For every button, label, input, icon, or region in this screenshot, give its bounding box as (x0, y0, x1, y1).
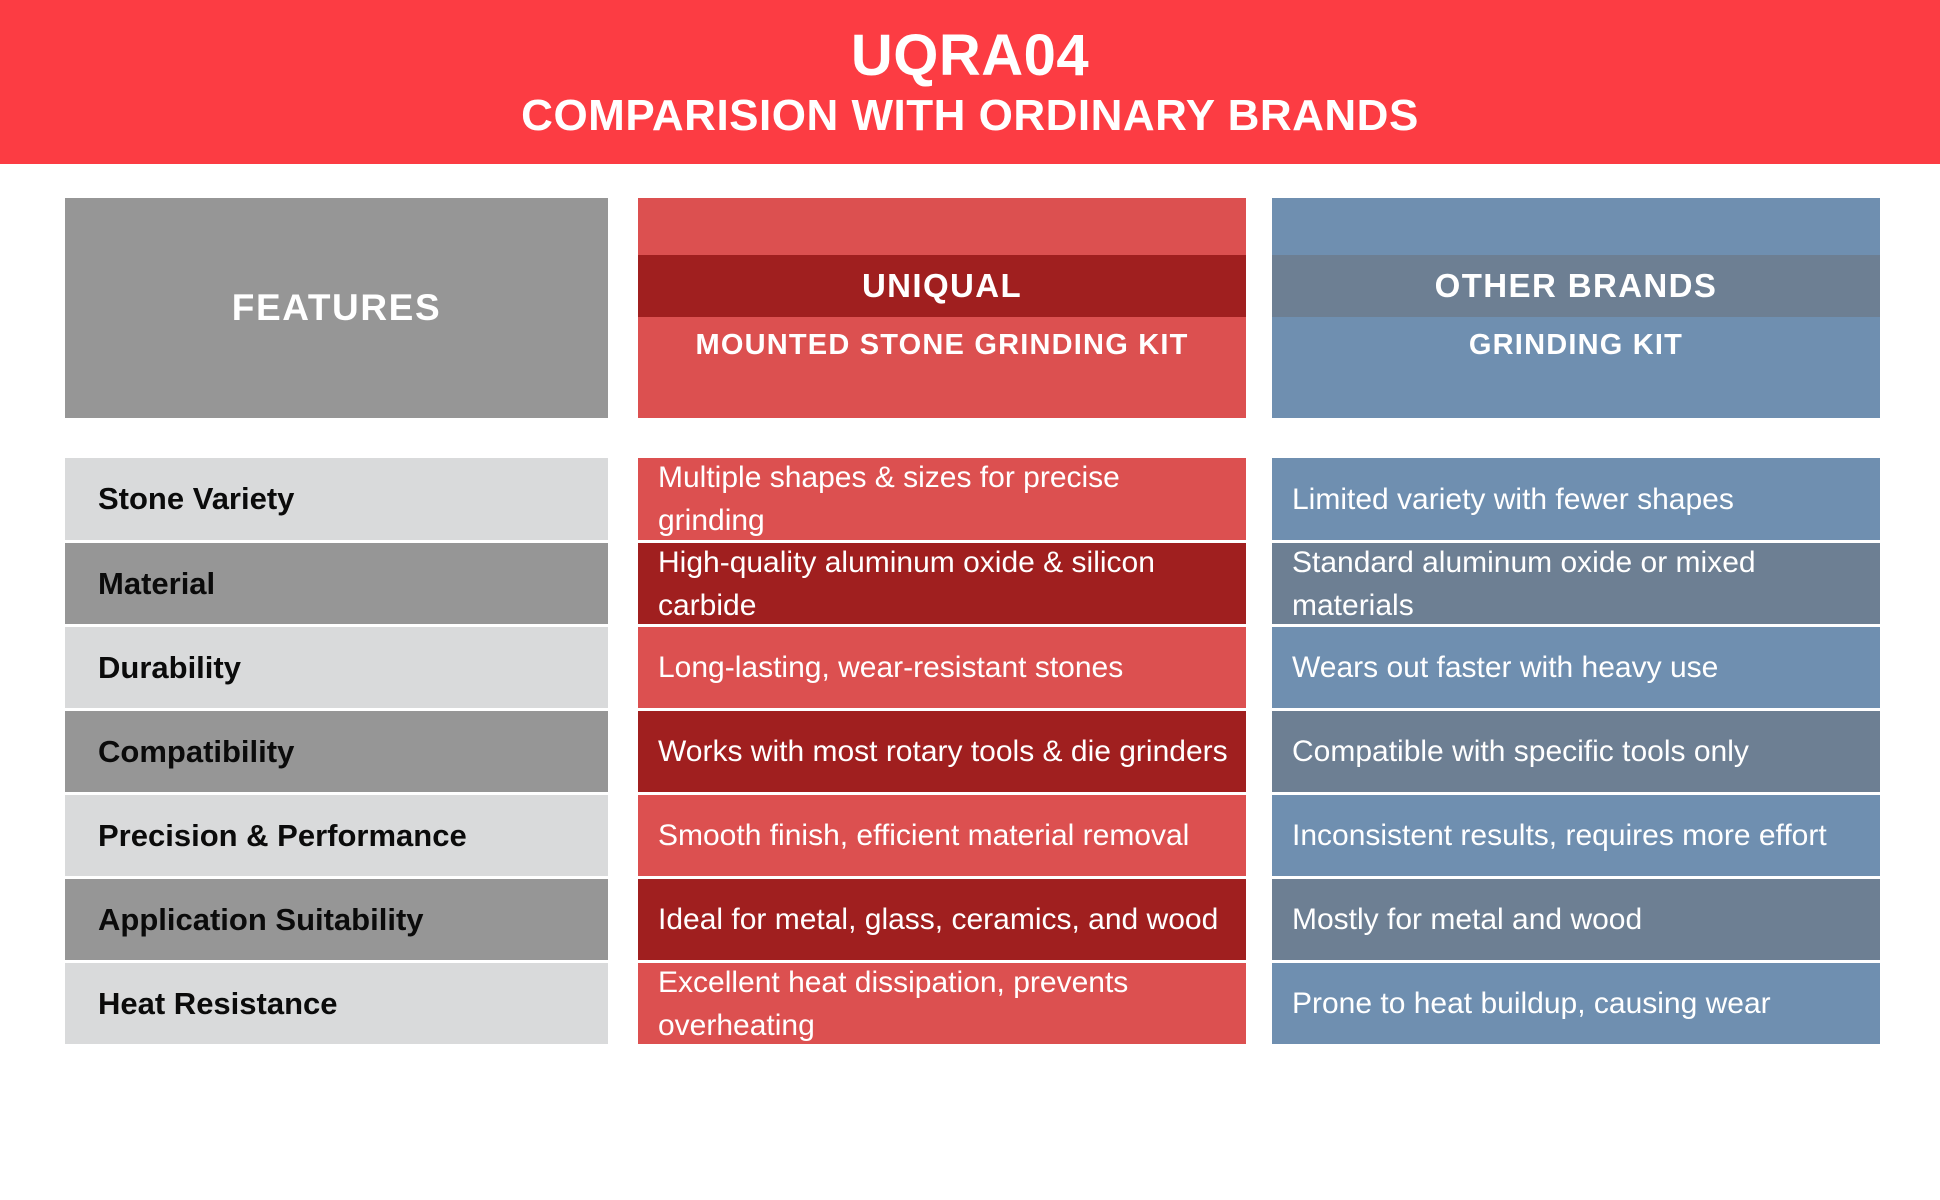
row-feature-cell-text: Durability (98, 649, 241, 687)
other-kit-label: GRINDING KIT (1469, 329, 1683, 362)
row-other-brands-cell-text: Compatible with specific tools only (1292, 730, 1749, 773)
page-banner: UQRA04 COMPARISION WITH ORDINARY BRANDS (0, 0, 1940, 164)
row-uniqual-cell: Multiple shapes & sizes for precise grin… (638, 458, 1246, 540)
row-uniqual-cell-text: Multiple shapes & sizes for precise grin… (658, 458, 1234, 540)
row-other-brands-cell: Limited variety with fewer shapes (1272, 458, 1880, 540)
row-feature-cell: Stone Variety (65, 458, 608, 540)
table-row: Application SuitabilityIdeal for metal, … (0, 879, 1940, 960)
row-uniqual-cell: High-quality aluminum oxide & silicon ca… (638, 543, 1246, 624)
row-feature-cell-text: Compatibility (98, 733, 294, 771)
table-row: Precision & PerformanceSmooth finish, ef… (0, 795, 1940, 876)
row-feature-cell-text: Heat Resistance (98, 985, 338, 1023)
table-row: Stone VarietyMultiple shapes & sizes for… (0, 458, 1940, 540)
row-other-brands-cell: Standard aluminum oxide or mixed materia… (1272, 543, 1880, 624)
uniqual-kit-label: MOUNTED STONE GRINDING KIT (695, 329, 1188, 362)
table-row: Heat ResistanceExcellent heat dissipatio… (0, 963, 1940, 1044)
row-feature-cell: Compatibility (65, 711, 608, 792)
row-other-brands-cell-text: Standard aluminum oxide or mixed materia… (1292, 543, 1868, 624)
row-uniqual-cell: Ideal for metal, glass, ceramics, and wo… (638, 879, 1246, 960)
row-uniqual-cell: Long-lasting, wear-resistant stones (638, 627, 1246, 708)
row-uniqual-cell: Works with most rotary tools & die grind… (638, 711, 1246, 792)
row-other-brands-cell-text: Prone to heat buildup, causing wear (1292, 982, 1771, 1025)
uniqual-brand-band: UNIQUAL (638, 255, 1246, 317)
row-feature-cell-text: Stone Variety (98, 480, 294, 518)
other-brand-band: OTHER BRANDS (1272, 255, 1880, 317)
table-row: MaterialHigh-quality aluminum oxide & si… (0, 543, 1940, 624)
row-other-brands-cell: Mostly for metal and wood (1272, 879, 1880, 960)
column-header-other-brands: OTHER BRANDS GRINDING KIT (1272, 198, 1880, 418)
row-other-brands-cell-text: Mostly for metal and wood (1292, 898, 1642, 941)
other-brand-label: OTHER BRANDS (1435, 267, 1718, 305)
row-uniqual-cell-text: High-quality aluminum oxide & silicon ca… (658, 543, 1234, 624)
row-uniqual-cell: Excellent heat dissipation, prevents ove… (638, 963, 1246, 1044)
row-uniqual-cell: Smooth finish, efficient material remova… (638, 795, 1246, 876)
page-subtitle: COMPARISION WITH ORDINARY BRANDS (521, 88, 1419, 144)
row-other-brands-cell: Inconsistent results, requires more effo… (1272, 795, 1880, 876)
row-uniqual-cell-text: Ideal for metal, glass, ceramics, and wo… (658, 898, 1218, 941)
page-title: UQRA04 (851, 24, 1089, 88)
row-feature-cell: Application Suitability (65, 879, 608, 960)
row-feature-cell-text: Material (98, 565, 215, 603)
row-feature-cell: Durability (65, 627, 608, 708)
uniqual-brand-label: UNIQUAL (862, 267, 1022, 305)
column-header-features: FEATURES (65, 198, 608, 418)
row-other-brands-cell: Compatible with specific tools only (1272, 711, 1880, 792)
row-feature-cell: Precision & Performance (65, 795, 608, 876)
comparison-infographic: UQRA04 COMPARISION WITH ORDINARY BRANDS … (0, 0, 1940, 1200)
row-uniqual-cell-text: Excellent heat dissipation, prevents ove… (658, 963, 1234, 1044)
column-headers: FEATURES UNIQUAL MOUNTED STONE GRINDING … (0, 198, 1940, 418)
row-feature-cell: Material (65, 543, 608, 624)
row-feature-cell-text: Precision & Performance (98, 817, 467, 855)
row-uniqual-cell-text: Works with most rotary tools & die grind… (658, 730, 1228, 773)
features-header-label: FEATURES (232, 287, 441, 329)
row-other-brands-cell: Prone to heat buildup, causing wear (1272, 963, 1880, 1044)
row-uniqual-cell-text: Smooth finish, efficient material remova… (658, 814, 1189, 857)
column-header-uniqual: UNIQUAL MOUNTED STONE GRINDING KIT (638, 198, 1246, 418)
row-feature-cell-text: Application Suitability (98, 901, 424, 939)
table-row: DurabilityLong-lasting, wear-resistant s… (0, 627, 1940, 708)
row-other-brands-cell-text: Limited variety with fewer shapes (1292, 478, 1734, 521)
row-other-brands-cell: Wears out faster with heavy use (1272, 627, 1880, 708)
uniqual-kit-band: MOUNTED STONE GRINDING KIT (638, 317, 1246, 373)
table-row: CompatibilityWorks with most rotary tool… (0, 711, 1940, 792)
row-feature-cell: Heat Resistance (65, 963, 608, 1044)
row-other-brands-cell-text: Inconsistent results, requires more effo… (1292, 814, 1827, 857)
comparison-table-body: Stone VarietyMultiple shapes & sizes for… (0, 458, 1940, 1047)
row-other-brands-cell-text: Wears out faster with heavy use (1292, 646, 1718, 689)
row-uniqual-cell-text: Long-lasting, wear-resistant stones (658, 646, 1123, 689)
other-kit-band: GRINDING KIT (1272, 317, 1880, 373)
